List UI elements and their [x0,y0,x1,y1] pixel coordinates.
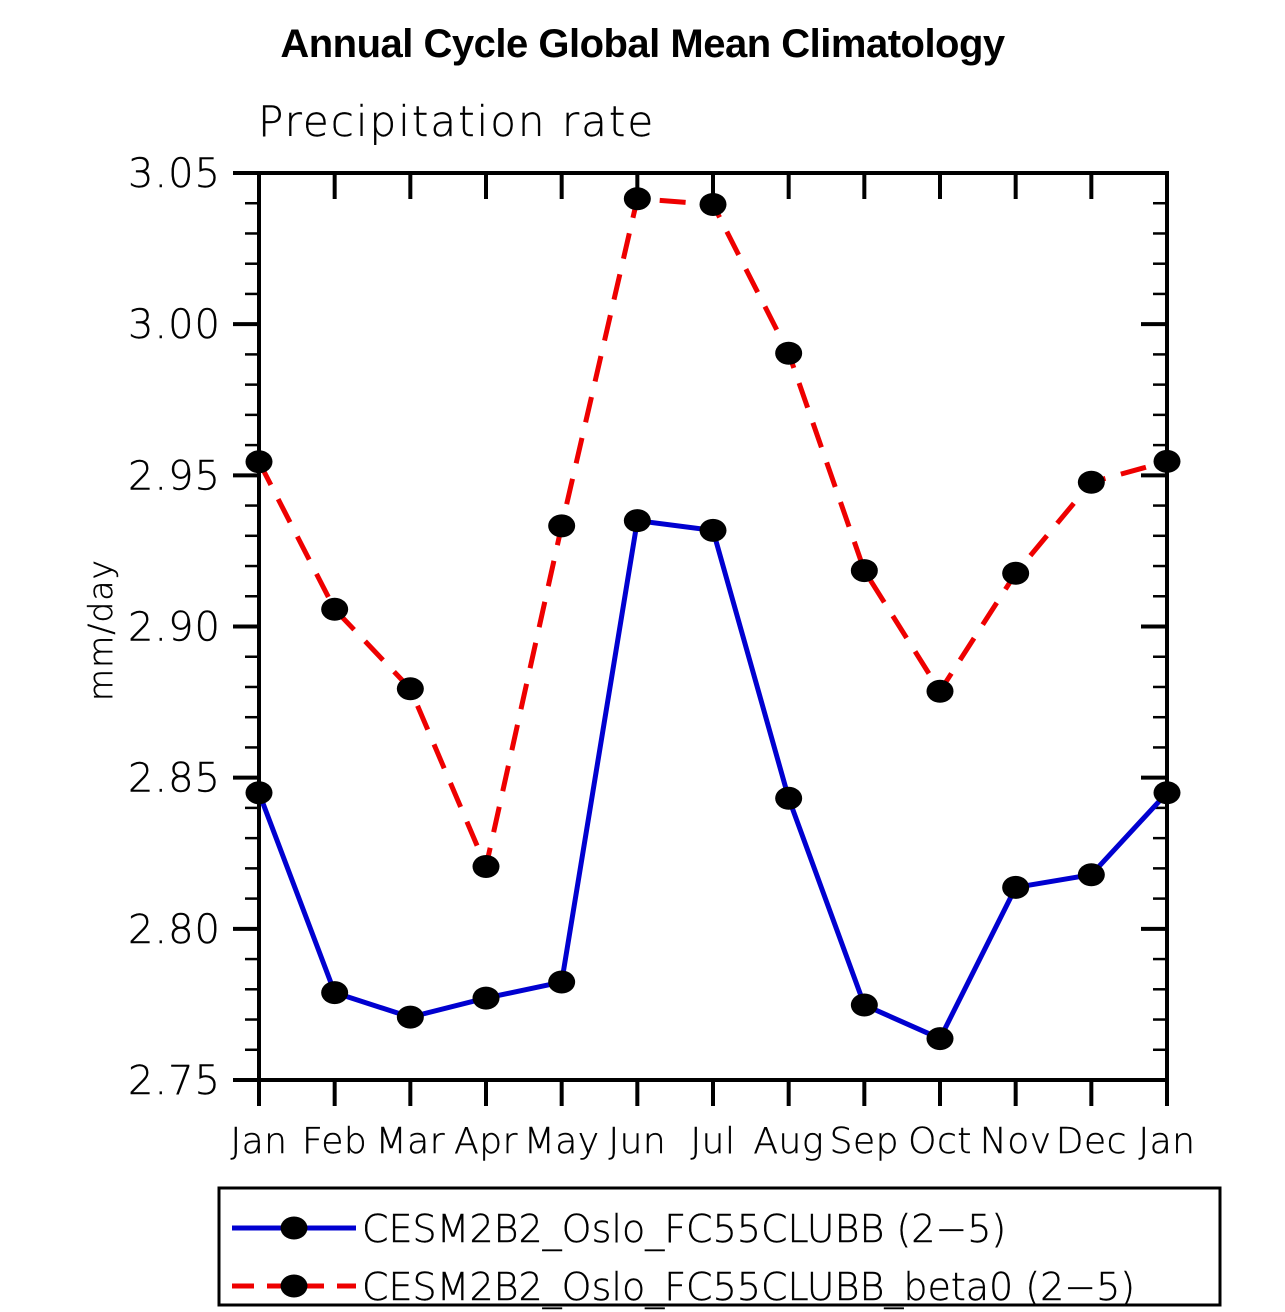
data-point-marker[interactable] [775,342,802,365]
y-tick-label: 2.90 [128,605,221,651]
axis-ticks [233,173,1167,1106]
x-tick-label: Mar [376,1121,445,1162]
chart-page: Annual Cycle Global Mean Climatology Pre… [0,0,1285,1312]
x-tick-label: Dec [1056,1121,1127,1162]
x-tick-label: Apr [454,1121,518,1162]
x-tick-label: Jul [691,1121,736,1162]
data-point-marker[interactable] [473,855,500,878]
precipitation-rate-line-chart: Precipitation rate mm/day 3.053.002.952.… [0,0,1285,1312]
data-point-marker[interactable] [851,559,878,582]
y-tick-labels: 3.053.002.952.902.852.802.75 [128,151,221,1104]
data-point-marker[interactable] [1078,863,1105,886]
data-point-marker[interactable] [397,1006,424,1029]
x-tick-label: Jun [608,1121,666,1162]
y-axis-title: mm/day [81,559,120,701]
legend-label-1: CESM2B2_Oslo_FC55CLUBB_beta0 (2−5) [362,1265,1135,1310]
x-tick-labels: JanFebMarAprMayJunJulAugSepOctNovDecJan [231,1121,1196,1162]
x-tick-label: May [524,1121,600,1162]
legend-marker-1[interactable] [281,1275,308,1298]
data-point-marker[interactable] [1154,450,1181,473]
plot-frame [259,173,1167,1080]
data-point-marker[interactable] [246,781,273,804]
data-point-marker[interactable] [927,1027,954,1050]
data-point-marker[interactable] [473,987,500,1010]
legend-marker-0[interactable] [281,1217,308,1240]
x-tick-label: Aug [753,1121,824,1162]
data-point-marker[interactable] [700,193,727,216]
data-point-marker[interactable] [624,509,651,532]
x-tick-label: Feb [302,1121,367,1162]
data-point-marker[interactable] [1154,781,1181,804]
data-point-marker[interactable] [851,994,878,1017]
series-line-0[interactable] [259,521,1167,1039]
data-point-marker[interactable] [397,677,424,700]
x-tick-label: Jan [1139,1121,1196,1162]
x-tick-label: Nov [980,1121,1052,1162]
data-point-marker[interactable] [321,981,348,1004]
x-tick-label: Sep [830,1121,899,1162]
x-tick-label: Jan [231,1121,288,1162]
x-tick-label: Oct [908,1121,972,1162]
data-series-group[interactable] [246,187,1181,1050]
legend-label-0: CESM2B2_Oslo_FC55CLUBB (2−5) [362,1207,1006,1252]
chart-subtitle: Precipitation rate [258,97,655,146]
data-point-marker[interactable] [1002,562,1029,585]
y-tick-label: 2.85 [128,756,221,802]
y-tick-label: 2.95 [128,453,221,499]
data-point-marker[interactable] [1078,471,1105,494]
data-point-marker[interactable] [700,519,727,542]
data-point-marker[interactable] [1002,876,1029,899]
y-tick-label: 2.80 [128,907,221,953]
data-point-marker[interactable] [927,680,954,703]
data-point-marker[interactable] [548,971,575,994]
y-tick-label: 2.75 [128,1058,221,1104]
data-point-marker[interactable] [775,787,802,810]
y-tick-label: 3.05 [128,151,221,197]
data-point-marker[interactable] [321,598,348,621]
y-tick-label: 3.00 [128,302,221,348]
data-point-marker[interactable] [624,187,651,210]
data-point-marker[interactable] [548,514,575,537]
data-point-marker[interactable] [246,450,273,473]
